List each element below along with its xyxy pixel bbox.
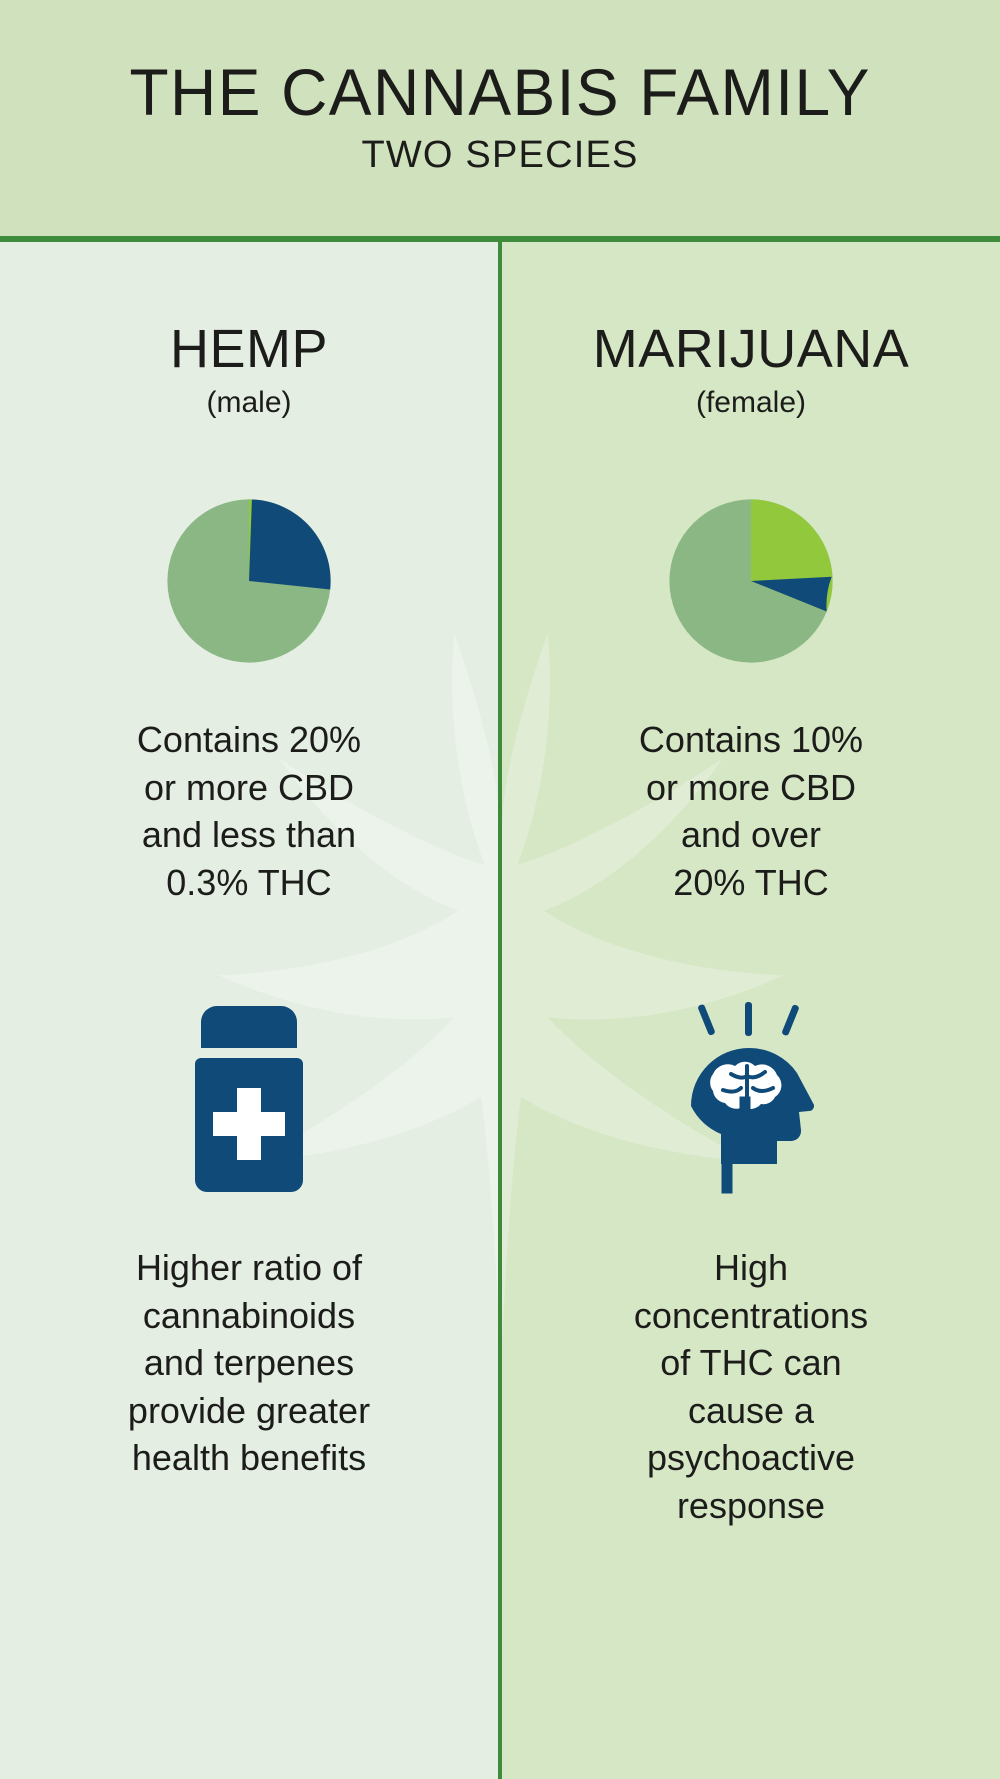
pie-slice-hemp-cbd	[249, 499, 331, 589]
stat-text-marijuana: Contains 10% or more CBD and over 20% TH…	[639, 716, 863, 906]
species-name-hemp: HEMP	[170, 322, 328, 376]
poster-header: THE CANNABIS FAMILY TWO SPECIES	[0, 0, 1000, 236]
species-sex-hemp: (male)	[206, 388, 291, 418]
pie-chart-marijuana-svg	[666, 496, 836, 666]
icon-marijuana-wrap	[661, 1002, 841, 1198]
pie-chart-hemp	[164, 496, 334, 666]
comparison-columns: HEMP (male) Contains 20% or more CBD and…	[0, 242, 1000, 1779]
page-subtitle: TWO SPECIES	[361, 134, 638, 177]
species-name-marijuana: MARIJUANA	[593, 322, 910, 376]
head-brain-icon	[661, 1002, 841, 1198]
column-marijuana-content: MARIJUANA (female) Contains 10% or more …	[502, 242, 1000, 1779]
infographic-poster: THE CANNABIS FAMILY TWO SPECIES HEMP (ma…	[0, 0, 1000, 1779]
icon-hemp-wrap	[169, 1002, 329, 1198]
species-sex-marijuana: (female)	[696, 388, 806, 418]
medicine-bottle-icon	[169, 1002, 329, 1198]
column-hemp: HEMP (male) Contains 20% or more CBD and…	[0, 242, 498, 1779]
pie-chart-marijuana	[666, 496, 836, 666]
column-marijuana: MARIJUANA (female) Contains 10% or more …	[502, 242, 1000, 1779]
stat-text-hemp: Contains 20% or more CBD and less than 0…	[137, 716, 361, 906]
column-hemp-content: HEMP (male) Contains 20% or more CBD and…	[0, 242, 498, 1779]
benefit-text-marijuana: High concentrations of THC can cause a p…	[634, 1244, 868, 1529]
benefit-text-hemp: Higher ratio of cannabinoids and terpene…	[128, 1244, 370, 1482]
pie-chart-hemp-svg	[164, 496, 334, 666]
page-title: THE CANNABIS FAMILY	[129, 59, 871, 126]
